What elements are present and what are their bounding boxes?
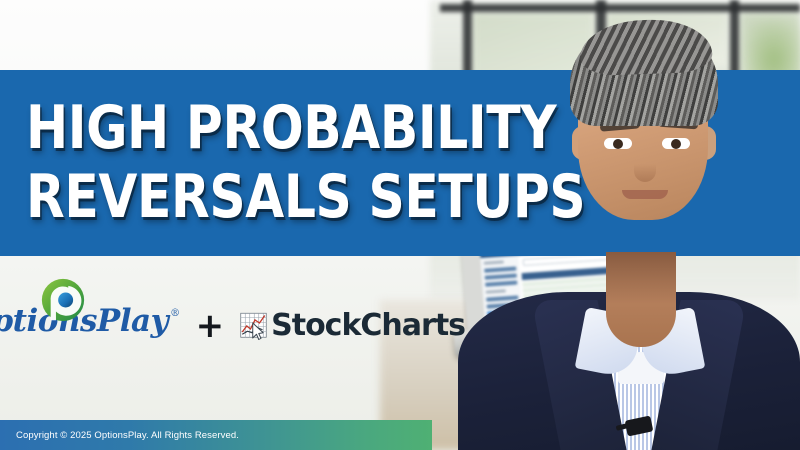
presenter-neck-shadow xyxy=(606,252,676,304)
stockcharts-wordmark: StockCharts xyxy=(271,311,465,341)
presenter-eye-left xyxy=(604,138,632,149)
registered-trademark-symbol: ® xyxy=(170,309,180,319)
logo-lockup-row: OptionsPlay ® + xyxy=(0,276,430,366)
video-thumbnail: HIGH PROBABILITY REVERSALS SETUPS xyxy=(0,0,800,450)
stockcharts-grid-cursor-logo-icon xyxy=(240,311,270,341)
plus-separator: + xyxy=(196,306,225,346)
presenter-nose xyxy=(634,152,656,182)
presenter-hair-fringe xyxy=(579,18,713,77)
stockcharts-logo: StockCharts xyxy=(240,311,465,341)
copyright-text: Copyright © 2025 OptionsPlay. All Rights… xyxy=(0,430,239,441)
presenter-eye-right xyxy=(662,138,690,149)
optionsplay-wordmark: OptionsPlay ® xyxy=(0,306,180,337)
optionsplay-circle-logo-icon xyxy=(41,278,85,322)
copyright-bar: Copyright © 2025 OptionsPlay. All Rights… xyxy=(0,420,432,450)
presenter-mouth xyxy=(622,190,668,199)
optionsplay-logo: OptionsPlay ® xyxy=(0,306,180,337)
presenter xyxy=(430,0,800,450)
